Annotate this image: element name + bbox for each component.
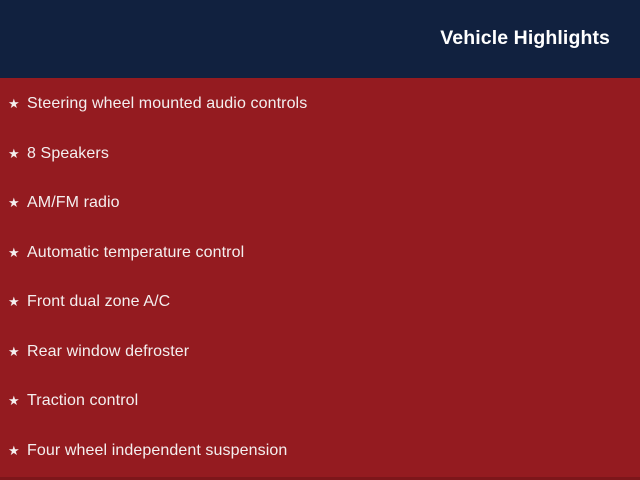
- star-bullet-icon: ★: [8, 145, 21, 163]
- header-band: Vehicle Highlights: [0, 0, 640, 78]
- list-item: ★ Rear window defroster: [0, 343, 640, 393]
- highlights-panel: ★ Steering wheel mounted audio controls …: [0, 78, 640, 477]
- list-item: ★ AM/FM radio: [0, 194, 640, 244]
- star-bullet-icon: ★: [8, 244, 21, 262]
- highlight-label: Four wheel independent suspension: [27, 442, 287, 460]
- star-bullet-icon: ★: [8, 392, 21, 410]
- list-item: ★ Steering wheel mounted audio controls: [0, 95, 640, 145]
- page-title: Vehicle Highlights: [440, 28, 610, 49]
- star-bullet-icon: ★: [8, 442, 21, 460]
- list-item: ★ Traction control: [0, 392, 640, 442]
- highlight-label: AM/FM radio: [27, 194, 120, 212]
- highlight-label: 8 Speakers: [27, 145, 109, 163]
- list-item: ★ 8 Speakers: [0, 145, 640, 195]
- list-item: ★ Automatic temperature control: [0, 244, 640, 294]
- star-bullet-icon: ★: [8, 293, 21, 311]
- highlight-label: Front dual zone A/C: [27, 293, 170, 311]
- list-item: ★ Four wheel independent suspension: [0, 442, 640, 480]
- star-bullet-icon: ★: [8, 343, 21, 361]
- list-item: ★ Front dual zone A/C: [0, 293, 640, 343]
- highlight-label: Traction control: [27, 392, 138, 410]
- highlight-label: Automatic temperature control: [27, 244, 244, 262]
- vehicle-highlights-slide: Vehicle Highlights ★ Steering wheel moun…: [0, 0, 640, 480]
- highlights-list: ★ Steering wheel mounted audio controls …: [0, 95, 640, 480]
- highlight-label: Steering wheel mounted audio controls: [27, 95, 307, 113]
- star-bullet-icon: ★: [8, 95, 21, 113]
- highlight-label: Rear window defroster: [27, 343, 189, 361]
- star-bullet-icon: ★: [8, 194, 21, 212]
